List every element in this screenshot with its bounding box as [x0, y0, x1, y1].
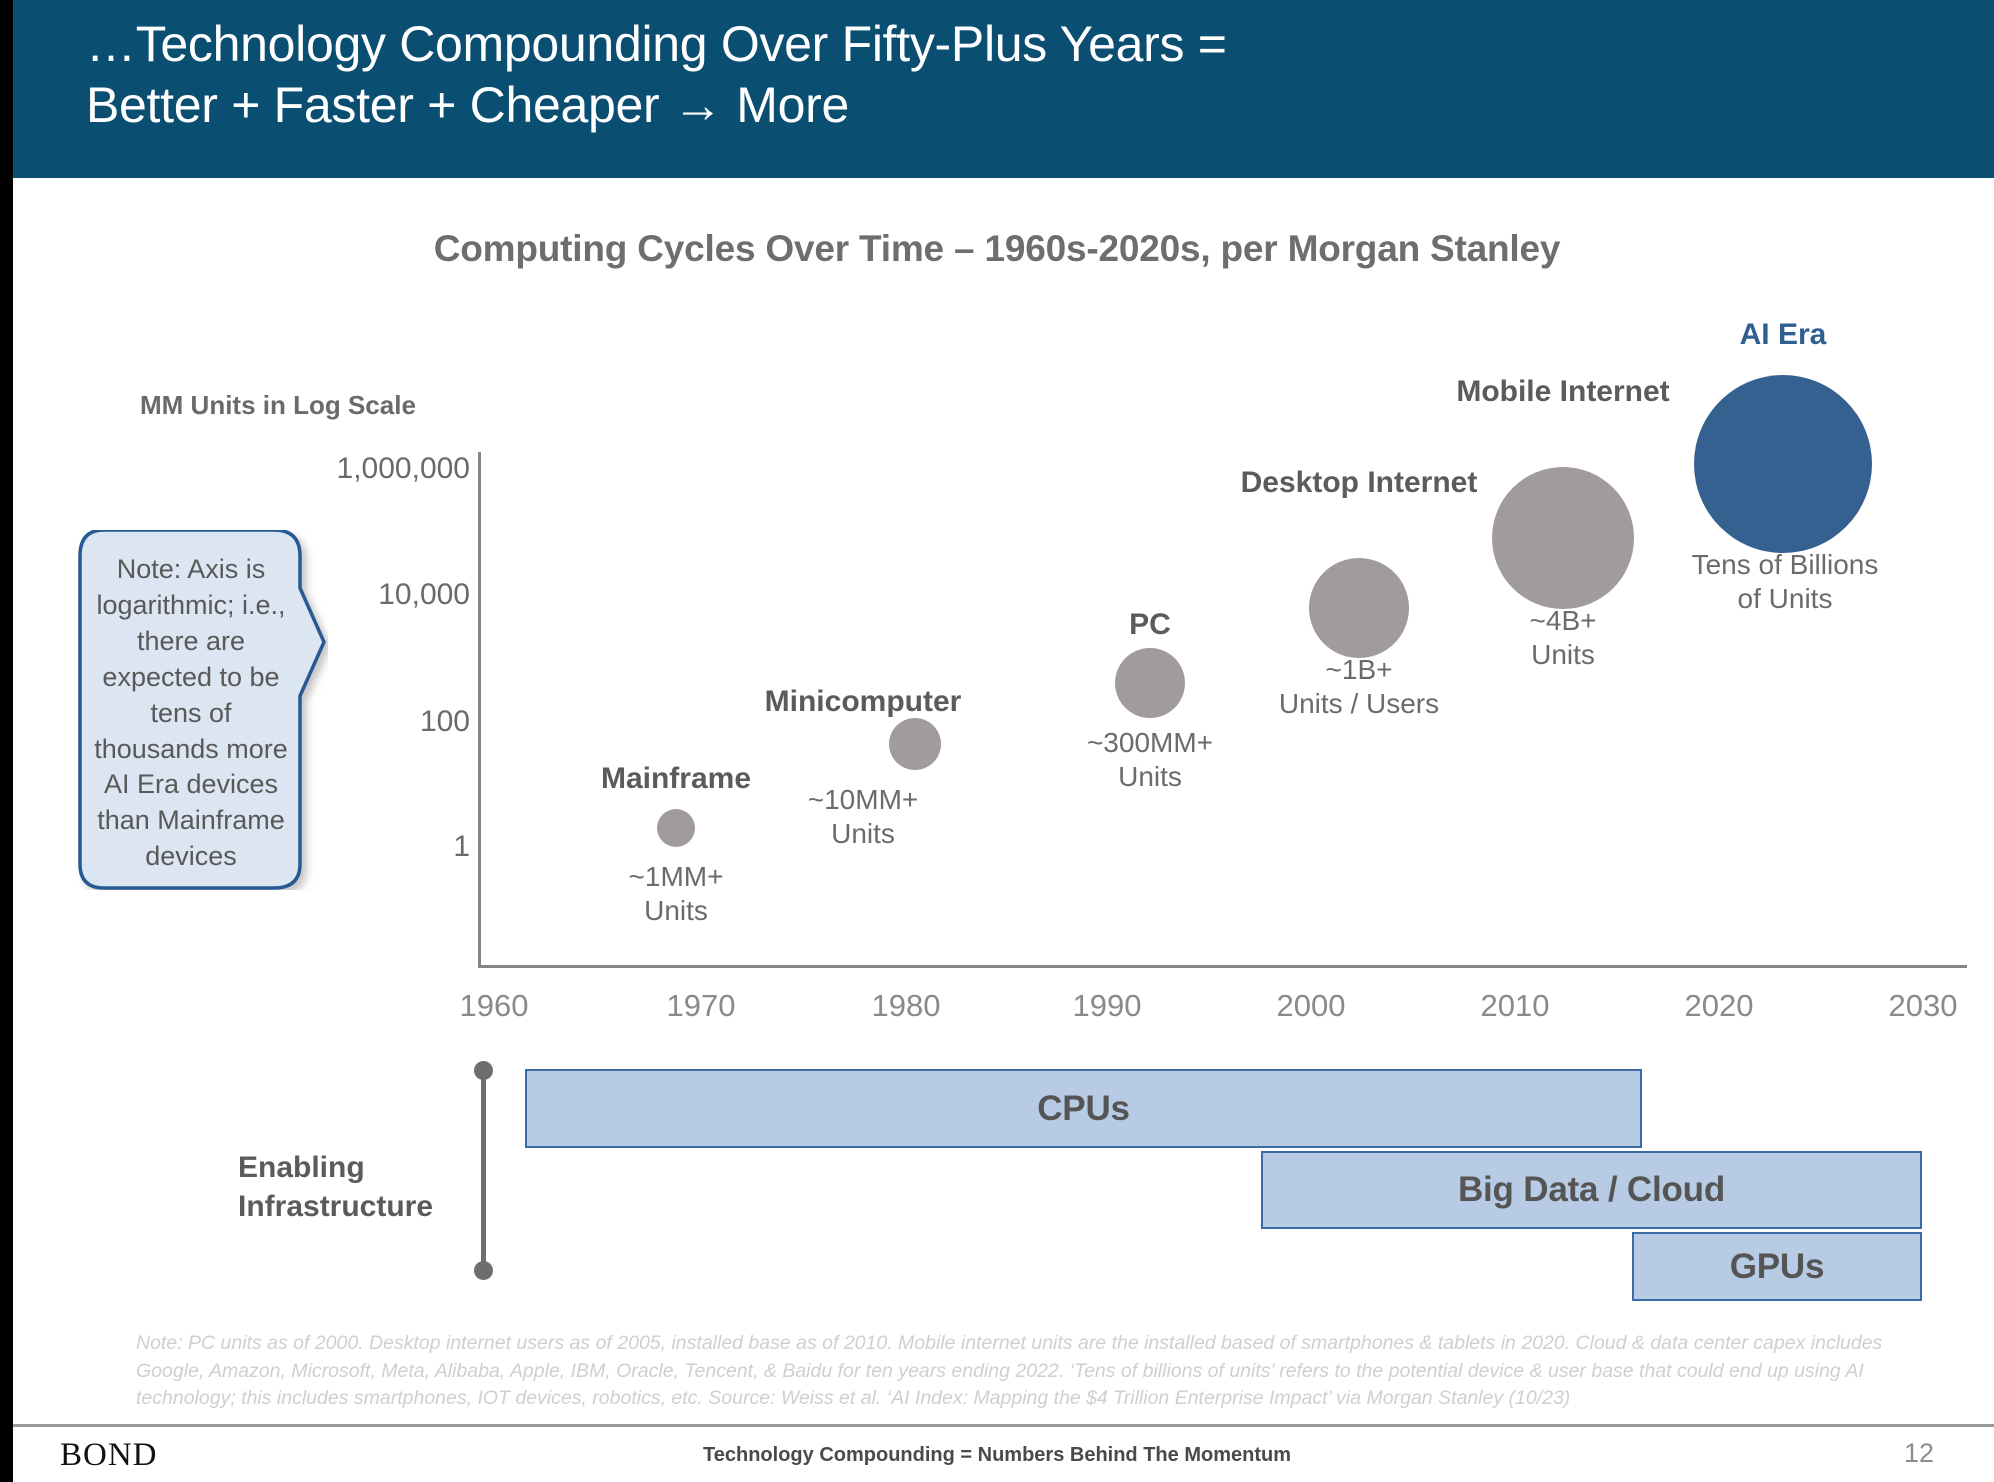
infrastructure-bracket-dot-top	[474, 1061, 493, 1080]
bubble-label-desktop-internet: Desktop Internet	[1238, 466, 1480, 501]
y-axis-line	[478, 452, 481, 967]
bubble-value-ai-era: Tens of Billions of Units	[1650, 548, 1920, 615]
bubble-pc	[1115, 648, 1185, 718]
x-tick-2030: 2030	[1853, 988, 1993, 1024]
x-tick-1980: 1980	[836, 988, 976, 1024]
x-tick-2020: 2020	[1649, 988, 1789, 1024]
footer-divider	[13, 1424, 1994, 1427]
bubble-label-ai-era: AI Era	[1663, 318, 1903, 353]
footnote: Note: PC units as of 2000. Desktop inter…	[136, 1330, 1926, 1413]
bubble-desktop-internet	[1309, 558, 1409, 658]
x-tick-1960: 1960	[424, 988, 564, 1024]
infra-bar-cpus[interactable]: CPUs	[525, 1069, 1642, 1148]
page-number: 12	[1904, 1438, 1934, 1469]
slide: …Technology Compounding Over Fifty-Plus …	[0, 0, 1994, 1482]
footer-subtitle: Technology Compounding = Numbers Behind …	[0, 1444, 1994, 1467]
bubble-value-mobile-internet: ~4B+ Units	[1443, 604, 1683, 671]
x-axis-line	[478, 965, 1967, 968]
infrastructure-bracket-line	[481, 1070, 486, 1270]
bubble-ai-era	[1694, 375, 1872, 553]
bubble-value-minicomputer: ~10MM+ Units	[743, 783, 983, 850]
bubble-mobile-internet	[1492, 467, 1634, 609]
infra-bar-gpus[interactable]: GPUs	[1632, 1232, 1922, 1301]
enabling-infrastructure-label: Enabling Infrastructure	[238, 1148, 478, 1226]
bubble-value-mainframe: ~1MM+ Units	[556, 860, 796, 927]
y-tick-10000: 10,000	[130, 578, 470, 612]
x-tick-2010: 2010	[1445, 988, 1585, 1024]
bubble-label-mobile-internet: Mobile Internet	[1443, 375, 1683, 410]
bubble-minicomputer	[889, 718, 941, 770]
bubble-label-pc: PC	[1030, 608, 1270, 643]
x-tick-2000: 2000	[1241, 988, 1381, 1024]
x-tick-1970: 1970	[631, 988, 771, 1024]
bubble-label-minicomputer: Minicomputer	[703, 685, 1023, 720]
bubble-value-pc: ~300MM+ Units	[1030, 726, 1270, 793]
bubble-mainframe	[657, 809, 695, 847]
y-tick-100: 100	[130, 705, 470, 739]
x-tick-1990: 1990	[1037, 988, 1177, 1024]
infrastructure-bracket-dot-bottom	[474, 1261, 493, 1280]
y-tick-1: 1	[130, 830, 470, 864]
y-tick-1000000: 1,000,000	[130, 452, 470, 486]
infra-bar-big-data-cloud[interactable]: Big Data / Cloud	[1261, 1151, 1922, 1229]
